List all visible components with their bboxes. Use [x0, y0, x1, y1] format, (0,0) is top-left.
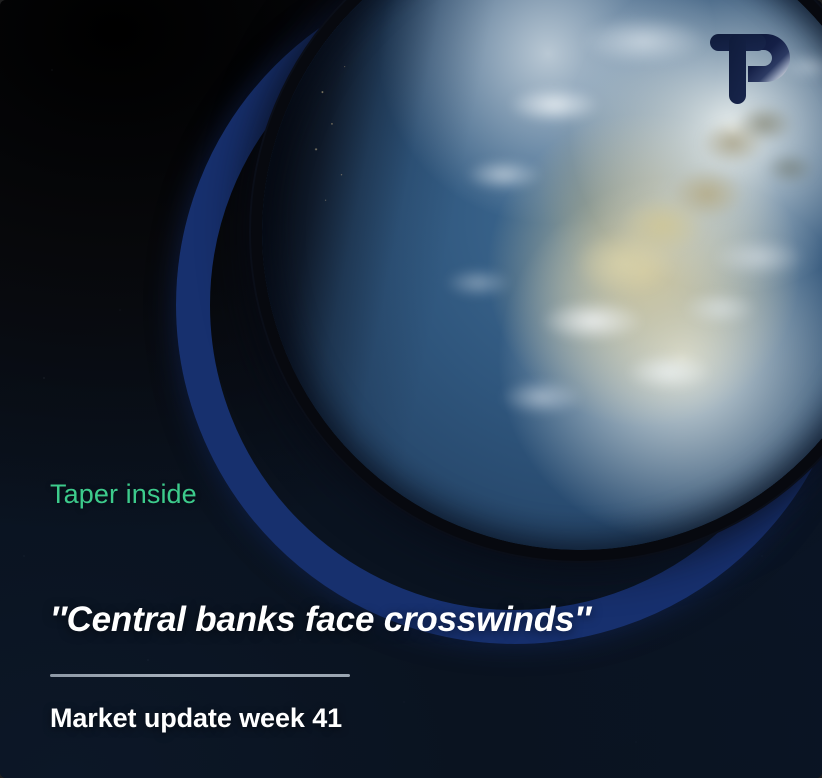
kicker-label: Taper inside: [50, 481, 750, 508]
market-update-cover-card: Taper inside ″Central banks face crosswi…: [0, 0, 822, 778]
cover-text-block: Taper inside ″Central banks face crosswi…: [50, 481, 750, 732]
divider: [50, 674, 350, 677]
subtitle-label: Market update week 41: [50, 705, 750, 732]
page-title: ″Central banks face crosswinds″: [50, 600, 750, 639]
tp-monogram-logo[interactable]: [696, 14, 800, 118]
